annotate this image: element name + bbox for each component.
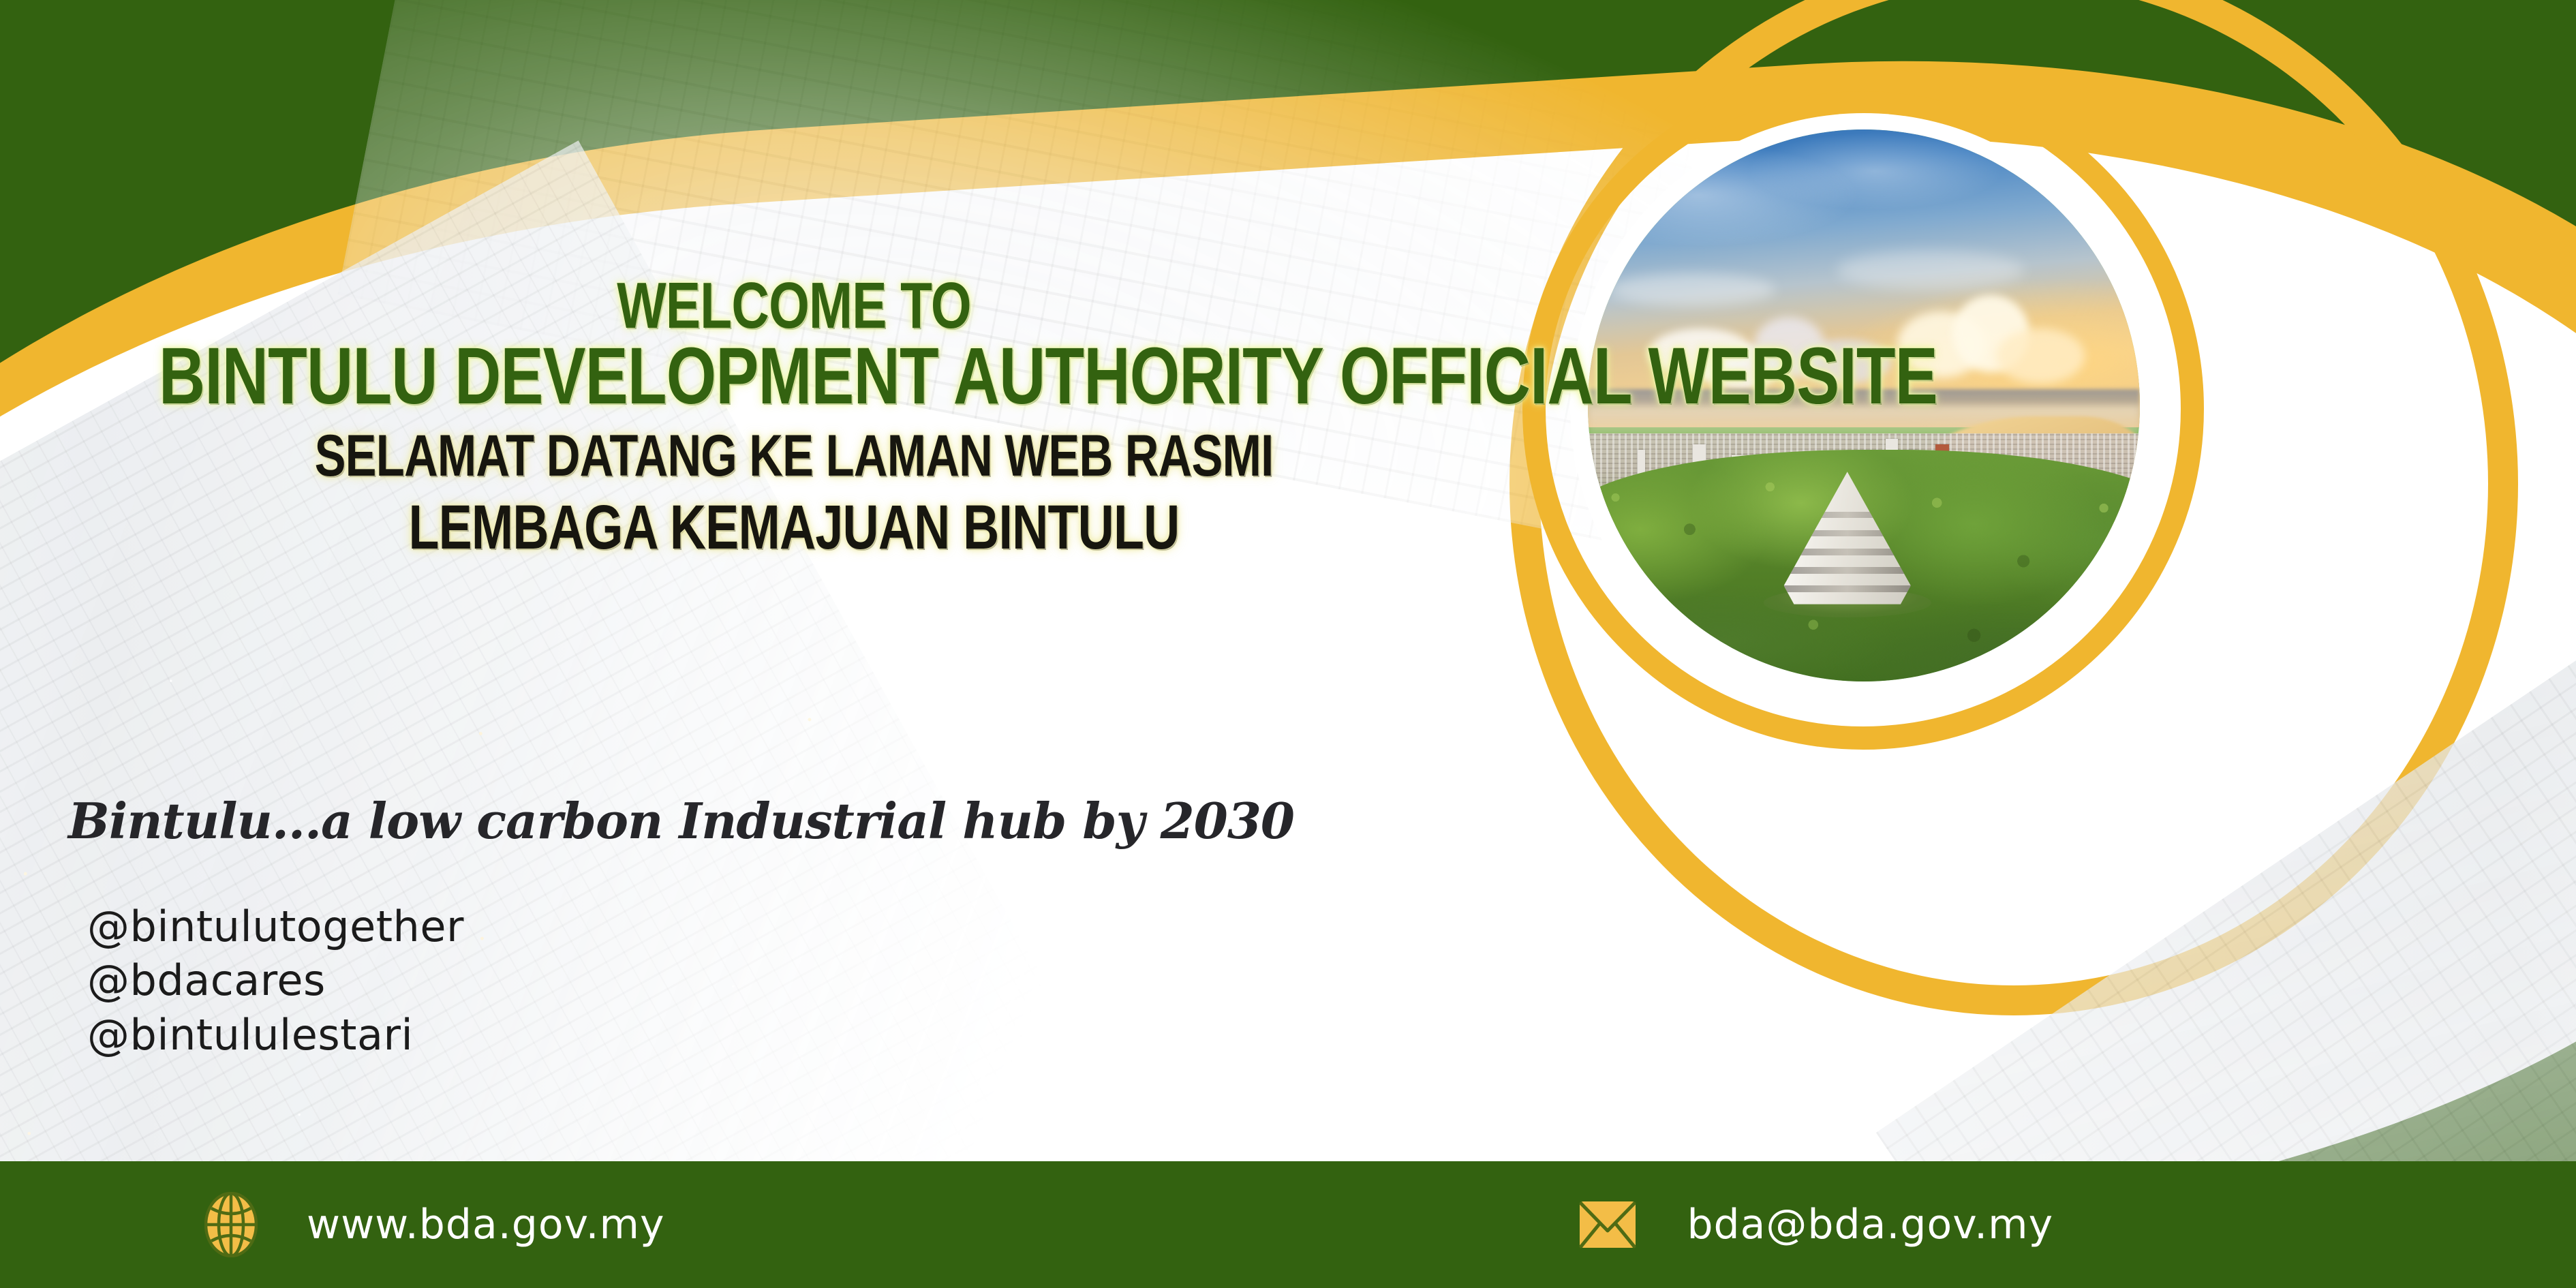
social-handle-bdacares[interactable]: @bdacares xyxy=(87,953,464,1007)
footer-website-text[interactable]: www.bda.gov.my xyxy=(307,1201,664,1248)
footer-email-text[interactable]: bda@bda.gov.my xyxy=(1687,1201,2053,1248)
globe-icon xyxy=(204,1192,258,1257)
social-handle-bintululestari[interactable]: @bintululestari xyxy=(87,1008,464,1062)
photo-cloud xyxy=(1837,251,2024,290)
footer-bar: www.bda.gov.my bda@bda.gov.my xyxy=(0,1161,2576,1288)
headline-line-lembaga: LEMBAGA KEMAJUAN BINTULU xyxy=(159,496,1429,560)
headline-line-authority: BINTULU DEVELOPMENT AUTHORITY OFFICIAL W… xyxy=(159,335,1429,417)
headline-line-welcome: WELCOME TO xyxy=(159,273,1429,339)
footer-email-item[interactable]: bda@bda.gov.my xyxy=(1578,1199,2053,1250)
social-handles-list: @bintulutogether @bdacares @bintululesta… xyxy=(87,900,464,1062)
photo-council-negri-monument xyxy=(1784,472,1911,604)
photo-cloud xyxy=(1610,273,1775,307)
footer-website-item[interactable]: www.bda.gov.my xyxy=(204,1192,664,1257)
monument-cone xyxy=(1784,472,1911,604)
social-handle-bintulutogether[interactable]: @bintulutogether xyxy=(87,900,464,953)
headline-block: WELCOME TO BINTULU DEVELOPMENT AUTHORITY… xyxy=(0,273,1588,560)
photo-cloud xyxy=(1996,328,2085,384)
bda-welcome-banner: WELCOME TO BINTULU DEVELOPMENT AUTHORITY… xyxy=(0,0,2576,1288)
headline-line-selamat: SELAMAT DATANG KE LAMAN WEB RASMI xyxy=(159,427,1429,487)
tagline: Bintulu...a low carbon Industrial hub by… xyxy=(68,792,1294,850)
envelope-icon xyxy=(1578,1199,1638,1250)
